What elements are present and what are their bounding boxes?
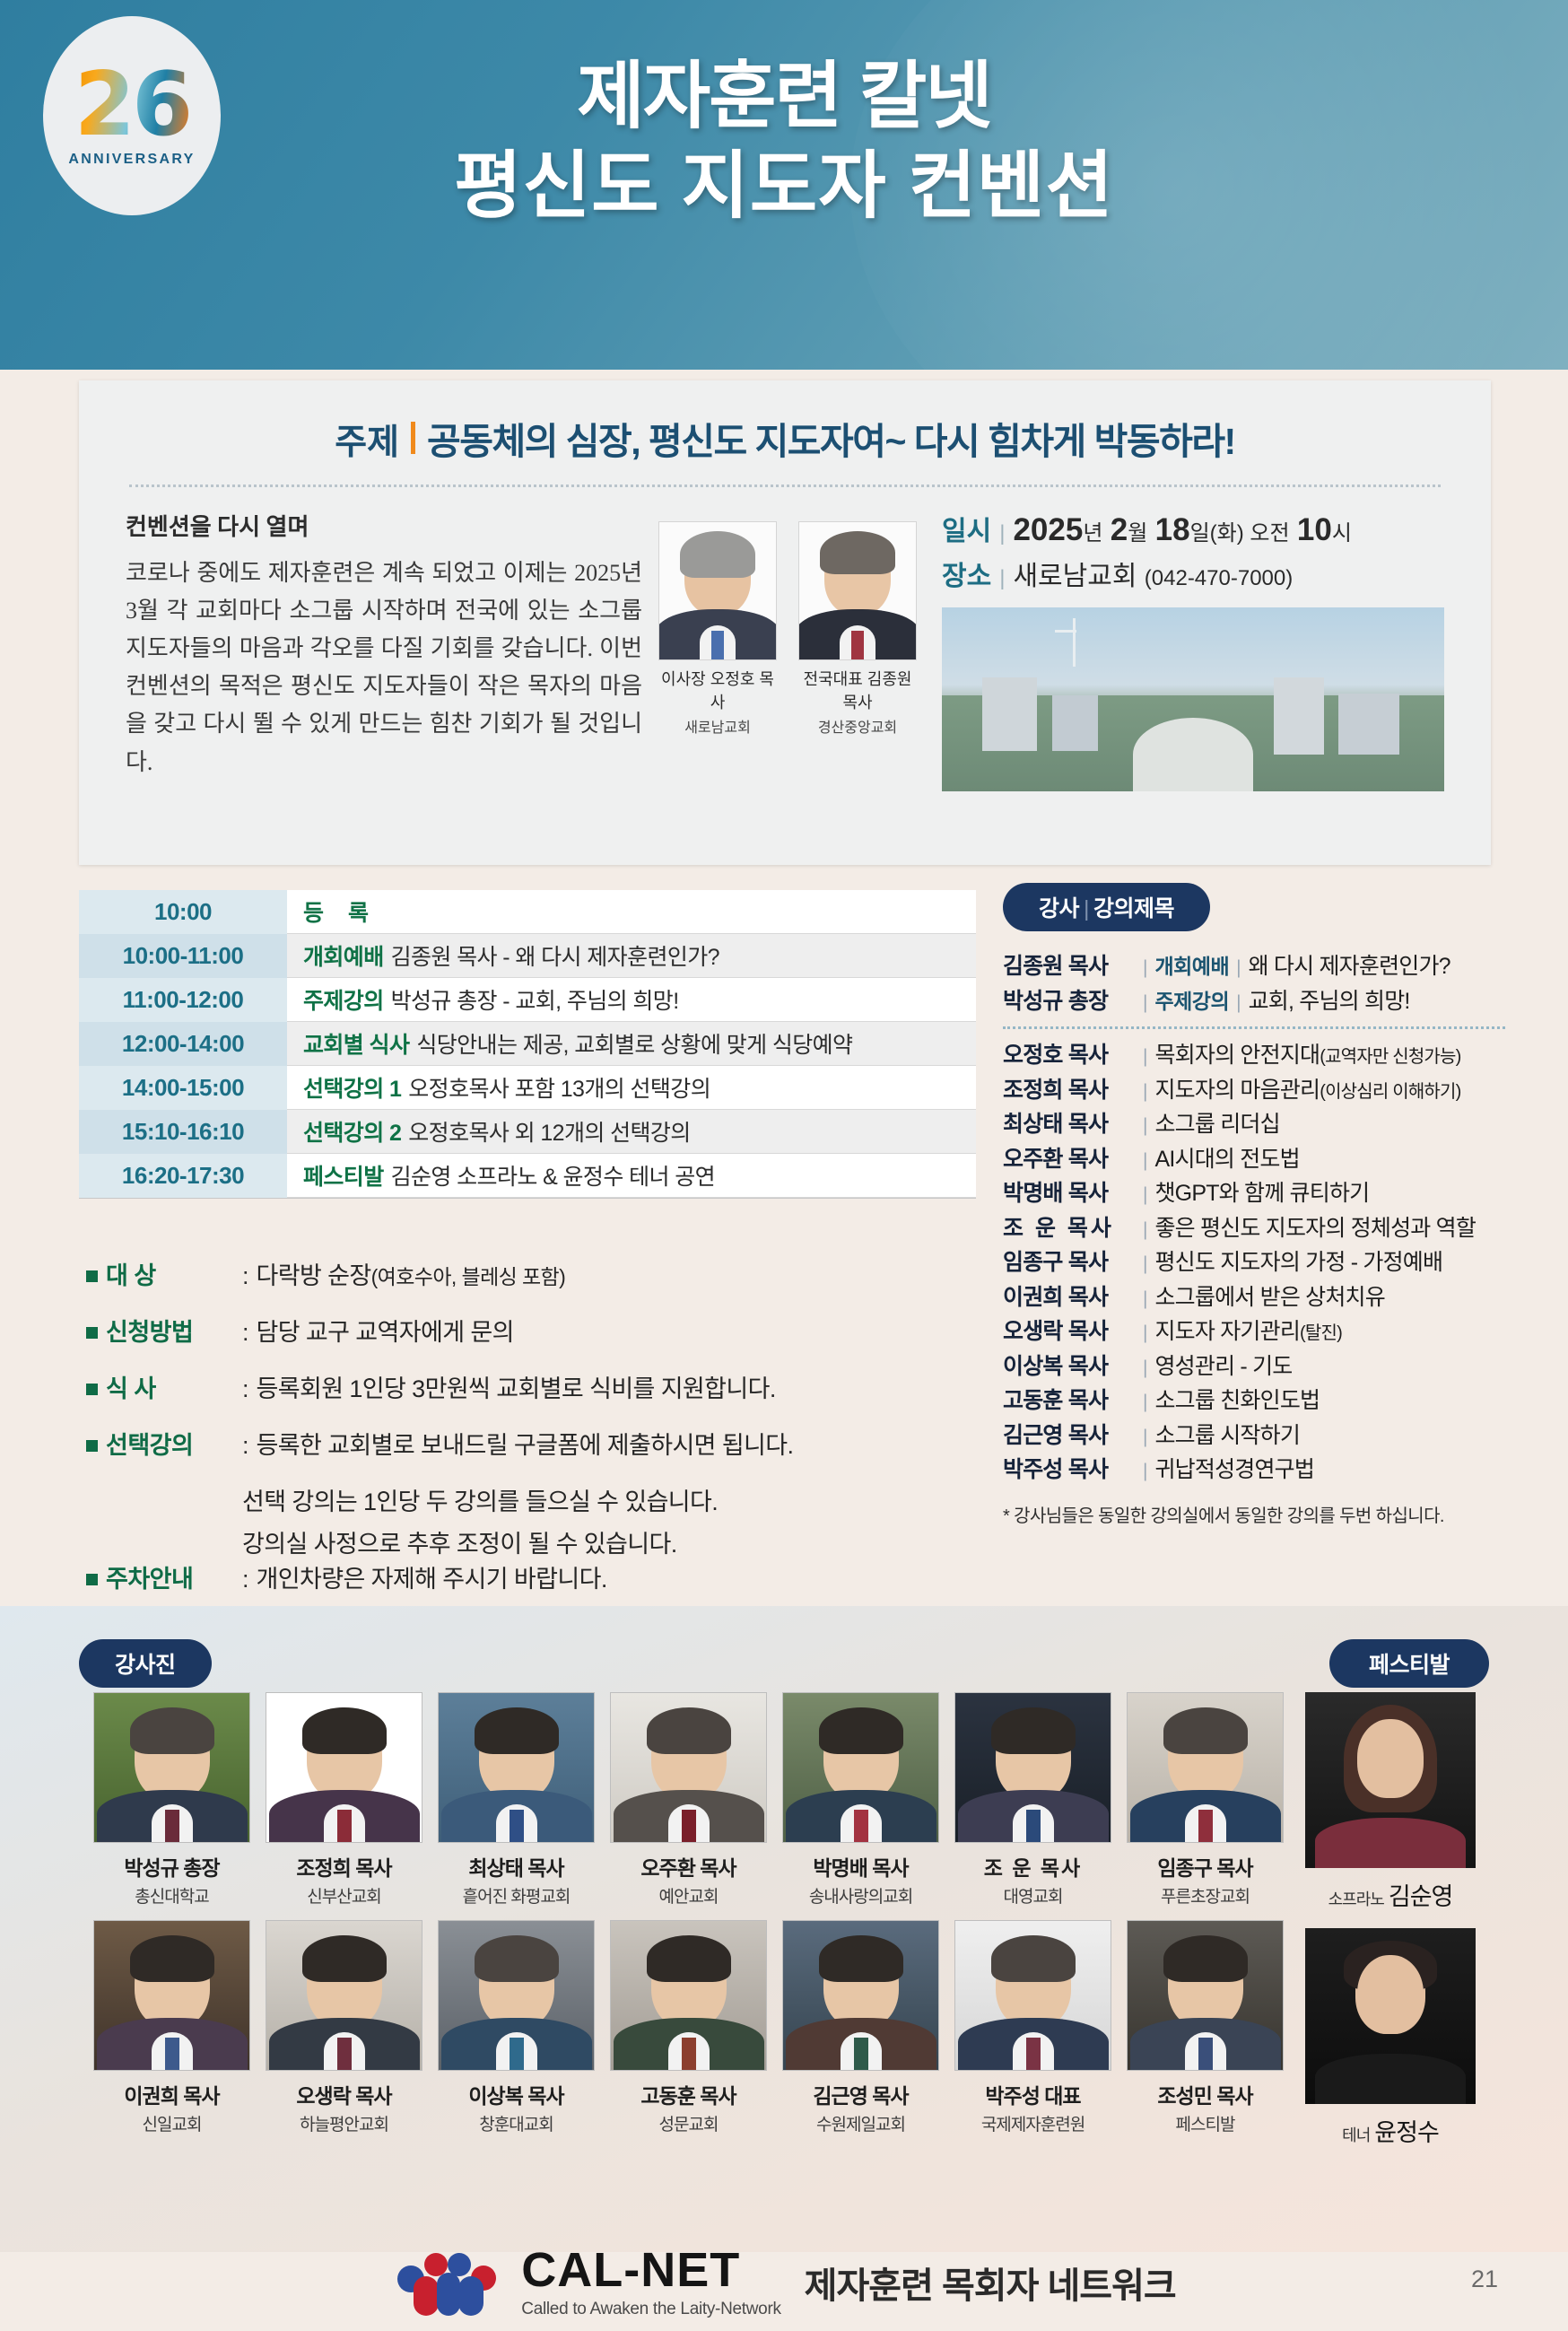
lecturer-divider-bar: | [1143, 990, 1147, 1017]
theme-label: 주제 [335, 415, 399, 465]
schedule-highlight: 주제강의 [303, 983, 384, 1016]
date-hour: 10 [1297, 512, 1332, 547]
lecturer-divider-bar: | [1143, 1182, 1147, 1209]
pill-divider: | [1084, 896, 1089, 921]
speaker-grid: 박성규 총장총신대학교조정희 목사신부산교회최상태 목사흩어진 화평교회오주환 … [93, 1692, 1286, 2148]
lecturer-title: 챗GPT와 함께 큐티하기 [1154, 1178, 1369, 1210]
date-year-unit: 년 [1083, 521, 1102, 546]
leader-church: 새로남교회 [658, 715, 777, 737]
lecturer-title: 목회자의 안전지대(교역자만 신청가능) [1154, 1040, 1460, 1072]
lecturer-name: 조 운 목사 [1003, 1213, 1136, 1245]
lecturer-title: 소그룹 시작하기 [1154, 1420, 1300, 1453]
schedule-row: 12:00-14:00교회별 식사식당안내는 제공, 교회별로 상황에 맞게 식… [79, 1022, 976, 1066]
note-block: 대 상:다락방 순장(여호수아, 블레싱 포함) [86, 1256, 992, 1291]
lecturer-row: 임종구 목사|평신도 지도자의 가정 - 가정예배 [1003, 1247, 1505, 1279]
speaker-card: 오생락 목사하늘평안교회 [266, 1920, 422, 2135]
calnet-korean-name: 제자훈련 목회자 네트워크 [805, 2257, 1176, 2309]
lecturer-divider-bar: | [1143, 1148, 1147, 1174]
note-value: 등록한 교회별로 보내드릴 구글폼에 제출하시면 됩니다. [257, 1426, 794, 1461]
speaker-church: 창훈대교회 [438, 2111, 595, 2135]
speaker-photo [438, 1692, 595, 1843]
speaker-card: 조 운 목사대영교회 [954, 1692, 1111, 1908]
lecturer-name: 박주성 목사 [1003, 1454, 1136, 1487]
place-name: 새로남교회 [1013, 562, 1137, 591]
lecturer-divider-bar: | [1143, 1286, 1147, 1313]
intro-body: 코로나 중에도 제자훈련은 계속 되었고 이제는 2025년 3월 각 교회마다… [126, 554, 642, 781]
hero-banner: 26 ANNIVERSARY 제자훈련 칼넷 평신도 지도자 컨벤션 [0, 0, 1568, 370]
schedule-row: 14:00-15:00선택강의 1오정호목사 포함 13개의 선택강의 [79, 1066, 976, 1110]
speaker-card: 오주환 목사예안교회 [610, 1692, 767, 1908]
event-info: 일시 | 2025년 2월 18일(화) 오전 10시 장소 | 새로남교회 (… [917, 509, 1444, 791]
speaker-photo [93, 1920, 250, 2071]
speaker-row: 박성규 총장총신대학교조정희 목사신부산교회최상태 목사흩어진 화평교회오주환 … [93, 1692, 1286, 1908]
festival-role: 소프라노 [1328, 1890, 1384, 1908]
note-block: 식 사:등록회원 1인당 3만원씩 교회별로 식비를 지원합니다. [86, 1369, 992, 1404]
festival-photo [1305, 1692, 1476, 1868]
lecturer-divider-bar: | [1143, 1078, 1147, 1105]
date-separator: | [999, 521, 1005, 546]
leader-name: 이사장 오정호 목사 [658, 667, 777, 713]
schedule-row: 10:00-11:00개회예배김종원 목사 - 왜 다시 제자훈련인가? [79, 934, 976, 978]
speaker-church: 신일교회 [93, 2111, 250, 2135]
speaker-name: 오주환 목사 [610, 1851, 767, 1881]
event-date-row: 일시 | 2025년 2월 18일(화) 오전 10시 [942, 509, 1444, 548]
lecturer-name: 김근영 목사 [1003, 1420, 1136, 1453]
speaker-name: 최상태 목사 [438, 1851, 595, 1881]
note-value: 등록회원 1인당 3만원씩 교회별로 식비를 지원합니다. [257, 1369, 776, 1404]
lecturer-divider-bar: | [1143, 1113, 1147, 1139]
gallery-festival-pill: 페스티발 [1329, 1639, 1489, 1688]
speaker-church: 송내사랑의교회 [782, 1883, 939, 1908]
speaker-church: 신부산교회 [266, 1883, 422, 1908]
schedule-detail: 선택강의 2오정호목사 외 12개의 선택강의 [287, 1110, 976, 1154]
lecturer-row: 박명배 목사|챗GPT와 함께 큐티하기 [1003, 1178, 1505, 1210]
note-value: 담당 교구 교역자에게 문의 [257, 1313, 514, 1348]
lecturer-divider-bar: | [1143, 1355, 1147, 1382]
speaker-card: 이상복 목사창훈대교회 [438, 1920, 595, 2135]
lecturer-row: 이상복 목사|영성관리 - 기도 [1003, 1351, 1505, 1384]
speaker-card: 조성민 목사페스티발 [1127, 1920, 1284, 2135]
lecturer-divider-bar: | [1143, 1217, 1147, 1244]
square-bullet-icon [86, 1384, 98, 1395]
schedule-detail-text: 김종원 목사 - 왜 다시 제자훈련인가? [391, 939, 719, 972]
lecturer-row: 김종원 목사|개회예배|왜 다시 제자훈련인가? [1003, 951, 1505, 983]
speaker-church: 하늘평안교회 [266, 2111, 422, 2135]
square-bullet-icon [86, 1440, 98, 1452]
date-month-unit: 월 [1128, 521, 1147, 546]
schedule-time: 14:00-15:00 [79, 1066, 287, 1110]
speaker-row: 이권희 목사신일교회오생락 목사하늘평안교회이상복 목사창훈대교회고동훈 목사성… [93, 1920, 1286, 2135]
schedule-time: 12:00-14:00 [79, 1022, 287, 1066]
theme-line: 주제 공동체의 심장, 평신도 지도자여~ 다시 힘차게 박동하라! [79, 380, 1491, 481]
schedule-detail: 주제강의박성규 총장 - 교회, 주님의 희망! [287, 978, 976, 1022]
speaker-photo [93, 1692, 250, 1843]
festival-role: 테너 [1342, 2126, 1370, 2144]
festival-column: 소프라노김순영테너윤정수 [1305, 1692, 1476, 2164]
note-value: 개인차량은 자제해 주시기 바랍니다. [257, 1559, 607, 1594]
note-row: 식 사:등록회원 1인당 3만원씩 교회별로 식비를 지원합니다. [86, 1369, 992, 1404]
lecturer-name: 박명배 목사 [1003, 1178, 1136, 1210]
note-row: 대 상:다락방 순장(여호수아, 블레싱 포함) [86, 1256, 992, 1291]
lecturer-title: 지도자의 마음관리(이상심리 이해하기) [1154, 1075, 1460, 1107]
lecturer-title: 소그룹 리더십 [1154, 1109, 1279, 1141]
leader-name: 전국대표 김종원 목사 [798, 667, 917, 713]
anniversary-label: ANNIVERSARY [68, 152, 195, 168]
date-day: 18 [1155, 512, 1190, 547]
lecturer-pill: 강사|강의제목 [1003, 883, 1210, 931]
lecturer-divider [1003, 1026, 1505, 1029]
speaker-card: 김근영 목사수원제일교회 [782, 1920, 939, 2135]
lecturer-row: 박주성 목사|귀납적성경연구법 [1003, 1454, 1505, 1487]
note-colon: : [242, 1319, 249, 1347]
lecturer-row: 김근영 목사|소그룹 시작하기 [1003, 1420, 1505, 1453]
lecturer-title: 왜 다시 제자훈련인가? [1249, 951, 1450, 983]
speaker-card: 고동훈 목사성문교회 [610, 1920, 767, 2135]
calnet-logo-icon [392, 2249, 501, 2316]
note-block: 선택강의:등록한 교회별로 보내드릴 구글폼에 제출하시면 됩니다.선택 강의는… [86, 1426, 992, 1559]
date-day-unit: 일(화) 오전 [1190, 521, 1290, 546]
gallery-speakers-pill: 강사진 [79, 1639, 212, 1688]
schedule-detail-text: 식당안내는 제공, 교회별로 상황에 맞게 식당예약 [416, 1027, 852, 1060]
lecturer-title-paren: (교역자만 신청가능) [1320, 1047, 1460, 1067]
speaker-name: 오생락 목사 [266, 2079, 422, 2109]
venue-photo [942, 607, 1444, 791]
schedule-detail: 등 록 [287, 890, 976, 934]
lecturer-row: 최상태 목사|소그룹 리더십 [1003, 1109, 1505, 1141]
intro-block: 컨벤션을 다시 열며 코로나 중에도 제자훈련은 계속 되었고 이제는 2025… [126, 509, 642, 791]
speaker-photo [438, 1920, 595, 2071]
festival-caption: 소프라노김순영 [1305, 1877, 1476, 1912]
lecturer-title-paren: (이상심리 이해하기) [1320, 1082, 1460, 1102]
schedule-time: 16:20-17:30 [79, 1154, 287, 1198]
schedule-highlight: 개회예배 [303, 939, 384, 972]
lecturer-name: 이권희 목사 [1003, 1282, 1136, 1314]
note-subline: 강의실 사정으로 추후 조정이 될 수 있습니다. [242, 1524, 992, 1559]
event-place-value: 새로남교회 (042-470-7000) [1013, 554, 1293, 593]
schedule-detail-text: 김순영 소프라노 & 윤정수 테너 공연 [391, 1159, 715, 1192]
speaker-photo [610, 1920, 767, 2071]
lecturer-pill-right: 강의제목 [1093, 896, 1174, 921]
date-hour-unit: 시 [1332, 521, 1352, 546]
intro-heading: 컨벤션을 다시 열며 [126, 509, 642, 542]
lecturer-row: 오주환 목사|AI시대의 전도법 [1003, 1144, 1505, 1176]
speaker-name: 이상복 목사 [438, 2079, 595, 2109]
note-colon: : [242, 1566, 249, 1593]
speaker-photo [266, 1692, 422, 1843]
speaker-name: 조 운 목사 [954, 1851, 1111, 1881]
schedule-highlight: 페스티발 [303, 1159, 384, 1192]
note-colon: : [242, 1262, 249, 1290]
speaker-photo [1127, 1920, 1284, 2071]
festival-name: 윤정수 [1374, 2119, 1439, 2146]
lecturer-title: 소그룹 친화인도법 [1154, 1385, 1320, 1418]
lecturer-name: 오생락 목사 [1003, 1316, 1136, 1349]
lecturer-row: 오생락 목사|지도자 자기관리(탈진) [1003, 1316, 1505, 1349]
square-bullet-icon [86, 1327, 98, 1339]
note-key: 식 사 [106, 1369, 242, 1404]
festival-name: 김순영 [1389, 1883, 1453, 1910]
lecturer-top-list: 김종원 목사|개회예배|왜 다시 제자훈련인가?박성규 총장|주제강의|교회, … [1003, 951, 1505, 1017]
lecturer-name: 박성규 총장 [1003, 986, 1136, 1018]
speaker-church: 성문교회 [610, 2111, 767, 2135]
title-line-2: 평신도 지도자 컨벤션 [0, 142, 1568, 231]
note-paren: (여호수아, 블레싱 포함) [371, 1265, 566, 1288]
calnet-wordmark: CAL-NET Called to Awaken the Laity-Netwo… [521, 2246, 780, 2319]
schedule-detail-text: 박성규 총장 - 교회, 주님의 희망! [391, 983, 679, 1016]
schedule-highlight: 교회별 식사 [303, 1027, 409, 1060]
speaker-name: 박주성 대표 [954, 2079, 1111, 2109]
lecturer-title: 지도자 자기관리(탈진) [1154, 1316, 1341, 1349]
lecturer-title: 영성관리 - 기도 [1154, 1351, 1292, 1384]
lecturer-divider-bar: | [1143, 1424, 1147, 1451]
place-separator: | [999, 566, 1005, 591]
festival-card: 소프라노김순영 [1305, 1692, 1476, 1912]
speaker-card: 박주성 대표국제제자훈련원 [954, 1920, 1111, 2135]
festival-card: 테너윤정수 [1305, 1928, 1476, 2148]
note-key: 대 상 [106, 1256, 242, 1291]
schedule-row: 11:00-12:00주제강의박성규 총장 - 교회, 주님의 희망! [79, 978, 976, 1022]
page-title: 제자훈련 칼넷 평신도 지도자 컨벤션 [0, 52, 1568, 231]
schedule-table: 10:00등 록10:00-11:00개회예배김종원 목사 - 왜 다시 제자훈… [79, 890, 976, 1199]
speaker-name: 이권희 목사 [93, 2079, 250, 2109]
lecturer-row: 조정희 목사|지도자의 마음관리(이상심리 이해하기) [1003, 1075, 1505, 1107]
lecturer-divider-bar: | [1236, 990, 1241, 1017]
speaker-card: 박명배 목사송내사랑의교회 [782, 1692, 939, 1908]
square-bullet-icon [86, 1574, 98, 1585]
schedule-highlight: 선택강의 1 [303, 1071, 401, 1104]
note-row: 주차안내:개인차량은 자제해 주시기 바랍니다. [86, 1559, 992, 1594]
schedule-detail: 선택강의 1오정호목사 포함 13개의 선택강의 [287, 1066, 976, 1110]
lecturer-title: 좋은 평신도 지도자의 정체성과 역할 [1154, 1213, 1476, 1245]
lecturer-panel: 강사|강의제목 김종원 목사|개회예배|왜 다시 제자훈련인가?박성규 총장|주… [1003, 883, 1505, 1527]
place-phone: (042-470-7000) [1145, 566, 1293, 590]
schedule-row: 10:00등 록 [79, 890, 976, 934]
leader-photo [798, 521, 917, 660]
schedule-highlight: 등 록 [303, 895, 378, 928]
event-date-label: 일시 [942, 509, 991, 548]
speaker-name: 고동훈 목사 [610, 2079, 767, 2109]
anniversary-number: 26 [74, 64, 189, 147]
speaker-card: 임종구 목사푸른초장교회 [1127, 1692, 1284, 1908]
gallery-speakers-pill-wrap: 강사진 [79, 1639, 212, 1688]
speaker-photo [610, 1692, 767, 1843]
schedule-time: 11:00-12:00 [79, 978, 287, 1022]
speaker-card: 이권희 목사신일교회 [93, 1920, 250, 2135]
lecturer-name: 오주환 목사 [1003, 1144, 1136, 1176]
note-colon: : [242, 1432, 249, 1460]
speaker-name: 박명배 목사 [782, 1851, 939, 1881]
lecturer-divider-bar: | [1143, 1320, 1147, 1347]
calnet-name: CAL-NET [521, 2246, 780, 2294]
page-number: 21 [1471, 2266, 1498, 2293]
note-block: 신청방법:담당 교구 교역자에게 문의 [86, 1313, 992, 1348]
speaker-photo [782, 1920, 939, 2071]
lecturer-row: 조 운 목사|좋은 평신도 지도자의 정체성과 역할 [1003, 1213, 1505, 1245]
event-place-row: 장소 | 새로남교회 (042-470-7000) [942, 554, 1444, 593]
lecturer-title: 귀납적성경연구법 [1154, 1454, 1314, 1487]
date-month: 2 [1111, 512, 1128, 547]
lecturer-divider-bar: | [1236, 955, 1241, 982]
speaker-church: 국제제자훈련원 [954, 2111, 1111, 2135]
festival-caption: 테너윤정수 [1305, 2113, 1476, 2148]
speaker-photo [266, 1920, 422, 2071]
speaker-church: 예안교회 [610, 1883, 767, 1908]
theme-text: 공동체의 심장, 평신도 지도자여~ 다시 힘차게 박동하라! [427, 411, 1235, 465]
leader-church: 경산중앙교회 [798, 715, 917, 737]
lecturer-name: 고동훈 목사 [1003, 1385, 1136, 1418]
note-key: 신청방법 [106, 1313, 242, 1348]
lecturer-tag: 개회예배 [1154, 952, 1229, 982]
speaker-photo [954, 1920, 1111, 2071]
speaker-church: 대영교회 [954, 1883, 1111, 1908]
speaker-name: 김근영 목사 [782, 2079, 939, 2109]
speaker-name: 조성민 목사 [1127, 2079, 1284, 2109]
speaker-photo [782, 1692, 939, 1843]
lecturer-title: 평신도 지도자의 가정 - 가정예배 [1154, 1247, 1442, 1279]
lecturer-footnote: * 강사님들은 동일한 강의실에서 동일한 강의를 두번 하십니다. [1003, 1501, 1505, 1527]
lecturer-pill-left: 강사 [1039, 896, 1079, 921]
speaker-church: 총신대학교 [93, 1883, 250, 1908]
schedule-row: 16:20-17:30페스티발김순영 소프라노 & 윤정수 테너 공연 [79, 1154, 976, 1198]
lecturer-row: 이권희 목사|소그룹에서 받은 상처치유 [1003, 1282, 1505, 1314]
speaker-church: 흩어진 화평교회 [438, 1883, 595, 1908]
speaker-name: 임종구 목사 [1127, 1851, 1284, 1881]
event-place-label: 장소 [942, 554, 991, 593]
schedule-detail-text: 오정호목사 외 12개의 선택강의 [408, 1115, 690, 1148]
leader-photo [658, 521, 777, 660]
calnet-tagline: Called to Awaken the Laity-Network [521, 2300, 780, 2319]
speaker-church: 수원제일교회 [782, 2111, 939, 2135]
schedule-detail: 교회별 식사식당안내는 제공, 교회별로 상황에 맞게 식당예약 [287, 1022, 976, 1066]
lecturer-divider-bar: | [1143, 1458, 1147, 1485]
schedule-detail: 개회예배김종원 목사 - 왜 다시 제자훈련인가? [287, 934, 976, 978]
lecturer-divider-bar: | [1143, 1043, 1147, 1070]
schedule-bottom-rule [79, 1198, 976, 1199]
lecturer-row: 박성규 총장|주제강의|교회, 주님의 희망! [1003, 986, 1505, 1018]
note-block: 주차안내:개인차량은 자제해 주시기 바랍니다. [86, 1559, 992, 1594]
speaker-photo [954, 1692, 1111, 1843]
lecturer-tag: 주제강의 [1154, 987, 1229, 1017]
note-value: 다락방 순장(여호수아, 블레싱 포함) [257, 1256, 566, 1291]
footer: CAL-NET Called to Awaken the Laity-Netwo… [0, 2234, 1568, 2331]
lecturer-name: 임종구 목사 [1003, 1247, 1136, 1279]
lecturer-title-paren: (탈진) [1300, 1323, 1342, 1343]
lecturer-name: 오정호 목사 [1003, 1040, 1136, 1072]
speaker-church: 페스티발 [1127, 2111, 1284, 2135]
schedule-time: 15:10-16:10 [79, 1110, 287, 1154]
lecturer-divider-bar: | [1143, 955, 1147, 982]
lecturer-name: 김종원 목사 [1003, 951, 1136, 983]
schedule-time: 10:00 [79, 890, 287, 934]
gallery-festival-pill-wrap: 페스티발 [1329, 1639, 1489, 1688]
date-year: 2025 [1013, 512, 1083, 547]
schedule-row: 15:10-16:10선택강의 2오정호목사 외 12개의 선택강의 [79, 1110, 976, 1154]
note-key: 선택강의 [106, 1426, 242, 1461]
lecturer-main-list: 오정호 목사|목회자의 안전지대(교역자만 신청가능)조정희 목사|지도자의 마… [1003, 1040, 1505, 1487]
lecturer-row: 오정호 목사|목회자의 안전지대(교역자만 신청가능) [1003, 1040, 1505, 1072]
anniversary-badge: 26 ANNIVERSARY [43, 16, 221, 215]
lecturer-divider-bar: | [1143, 1389, 1147, 1416]
note-row: 선택강의:등록한 교회별로 보내드릴 구글폼에 제출하시면 됩니다. [86, 1426, 992, 1461]
lecturer-title: AI시대의 전도법 [1154, 1144, 1299, 1176]
speaker-card: 최상태 목사흩어진 화평교회 [438, 1692, 595, 1908]
note-key: 주차안내 [106, 1559, 242, 1594]
event-date-value: 2025년 2월 18일(화) 오전 10시 [1013, 512, 1352, 548]
leader-card: 전국대표 김종원 목사 경산중앙교회 [798, 521, 917, 791]
festival-photo [1305, 1928, 1476, 2104]
theme-card: 주제 공동체의 심장, 평신도 지도자여~ 다시 힘차게 박동하라! 컨벤션을 … [79, 380, 1491, 865]
speaker-name: 박성규 총장 [93, 1851, 250, 1881]
schedule-detail: 페스티발김순영 소프라노 & 윤정수 테너 공연 [287, 1154, 976, 1198]
note-subline: 선택 강의는 1인당 두 강의를 들으실 수 있습니다. [242, 1482, 992, 1517]
lecturer-name: 최상태 목사 [1003, 1109, 1136, 1141]
schedule-highlight: 선택강의 2 [303, 1115, 401, 1148]
note-row: 신청방법:담당 교구 교역자에게 문의 [86, 1313, 992, 1348]
leader-card: 이사장 오정호 목사 새로남교회 [658, 521, 777, 791]
speaker-church: 푸른초장교회 [1127, 1883, 1284, 1908]
speaker-card: 박성규 총장총신대학교 [93, 1692, 250, 1908]
square-bullet-icon [86, 1270, 98, 1282]
schedule-time: 10:00-11:00 [79, 934, 287, 978]
theme-divider-bar [411, 422, 415, 454]
lecturer-title: 소그룹에서 받은 상처치유 [1154, 1282, 1385, 1314]
leader-portraits: 이사장 오정호 목사 새로남교회 전국대표 김종원 목사 경산중앙교회 [642, 509, 917, 791]
schedule-detail-text: 오정호목사 포함 13개의 선택강의 [408, 1071, 710, 1104]
lecturer-title: 교회, 주님의 희망! [1249, 986, 1410, 1018]
title-line-1: 제자훈련 칼넷 [0, 52, 1568, 142]
lecturer-divider-bar: | [1143, 1251, 1147, 1278]
speaker-photo [1127, 1692, 1284, 1843]
lecturer-name: 조정희 목사 [1003, 1075, 1136, 1107]
speaker-name: 조정희 목사 [266, 1851, 422, 1881]
lecturer-name: 이상복 목사 [1003, 1351, 1136, 1384]
note-colon: : [242, 1375, 249, 1403]
lecturer-row: 고동훈 목사|소그룹 친화인도법 [1003, 1385, 1505, 1418]
speaker-card: 조정희 목사신부산교회 [266, 1692, 422, 1908]
notes-list: 대 상:다락방 순장(여호수아, 블레싱 포함)신청방법:담당 교구 교역자에게… [86, 1256, 992, 1616]
